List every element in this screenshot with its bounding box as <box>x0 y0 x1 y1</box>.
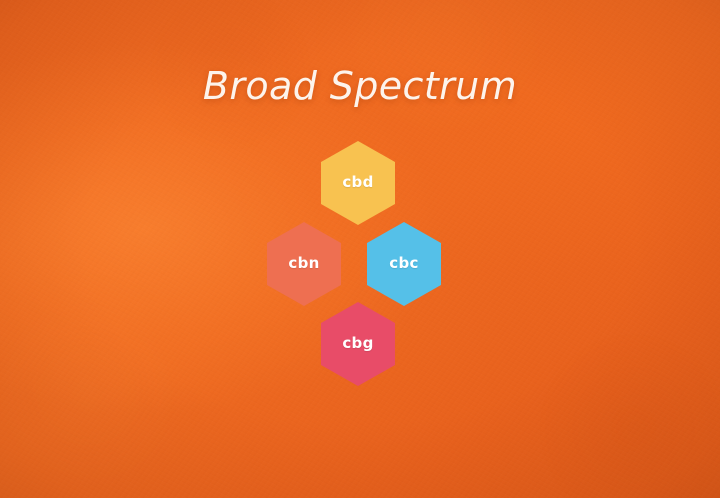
hexagon-cbd-label: cbd <box>342 173 373 191</box>
hexagon-cbg-label: cbg <box>342 334 373 352</box>
hexagon-cbg[interactable]: cbg <box>321 302 395 386</box>
hexagon-cbn-label: cbn <box>288 254 319 272</box>
hexagon-cluster: cbd cbn cbc cbg <box>0 0 720 498</box>
hexagon-cbc[interactable]: cbc <box>367 222 441 306</box>
broad-spectrum-graphic: Broad Spectrum cbd cbn cbc cbg <box>0 0 720 498</box>
hexagon-cbn[interactable]: cbn <box>267 222 341 306</box>
hexagon-cbd[interactable]: cbd <box>321 141 395 225</box>
hexagon-cbc-label: cbc <box>389 254 418 272</box>
